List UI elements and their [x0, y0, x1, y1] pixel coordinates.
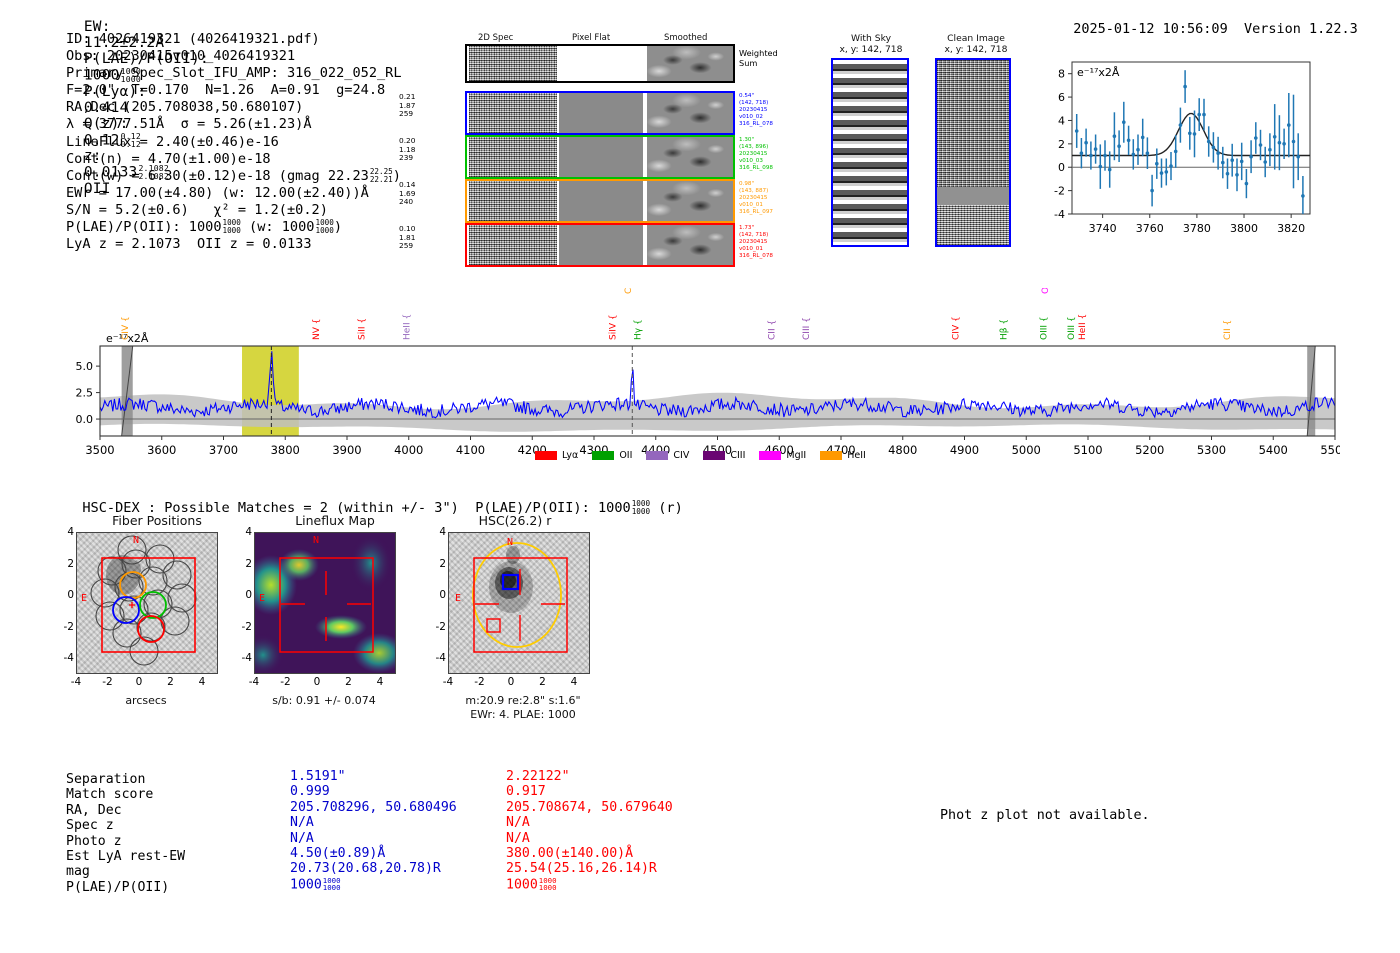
svg-text:CIV {: CIV { — [121, 316, 131, 340]
fiber-2dspec-tile — [469, 137, 557, 177]
fiber-smoothed-tile — [647, 137, 733, 177]
svg-text:5100: 5100 — [1073, 443, 1102, 457]
axis-tick-x: -4 — [439, 676, 457, 688]
info-plae-sub: 1000 — [223, 227, 241, 235]
match-table-label: Spec z — [66, 818, 185, 833]
svg-text:e⁻¹⁷x2Å: e⁻¹⁷x2Å — [1077, 66, 1120, 79]
hsc-north-label: N — [507, 537, 513, 548]
axis-tick-y: 4 — [58, 526, 74, 538]
fiber-row[interactable] — [465, 223, 735, 267]
info-radec: RA,Dec (205.708038,50.680107) — [66, 99, 402, 116]
fiber-metadata: 0.54"(142, 718)20230415v010_02316_RL_078 — [739, 93, 773, 128]
info-sn: S/N = 5.2(±0.6) χ² = 1.2(±0.2) — [66, 202, 402, 219]
axis-tick-x: 4 — [193, 676, 211, 688]
with-sky-title: With Sky x, y: 142, 718 — [826, 33, 916, 55]
svg-text:5300: 5300 — [1197, 443, 1226, 457]
fiber-pixelflat-tile — [559, 181, 643, 221]
fiber-positions-title: Fiber Positions — [62, 513, 252, 528]
info-cont-n: Cont(n) = 4.70(±1.00)e-18 — [66, 151, 402, 168]
info-plae: P(LAE)/P(OII): 100010001000 (w: 10001000… — [66, 219, 402, 236]
fiber-smoothed-tile — [647, 93, 733, 133]
svg-text:SiII {: SiII { — [357, 318, 367, 340]
axis-tick-x: 2 — [534, 676, 552, 688]
match-table-value: 20.73(20.68,20.78)R — [290, 861, 457, 876]
match-table-value: 0.917 — [506, 784, 673, 799]
full-spectrum-plot: 0.02.55.03500360037003800390040004100420… — [60, 288, 1340, 463]
dex-suffix: (r) — [658, 500, 683, 516]
legend-item: HeII — [820, 450, 866, 461]
fiber-row[interactable] — [465, 91, 735, 135]
spec2d-col-title-smoothed: Smoothed — [664, 33, 707, 43]
svg-text:CIII {: CIII { — [624, 288, 634, 294]
match-table-value: 100010001000 — [290, 877, 457, 893]
fiber-count: 259 — [399, 110, 459, 119]
svg-text:CII {: CII { — [767, 320, 777, 340]
axis-tick-y: -2 — [430, 621, 446, 633]
fiber-count: 259 — [399, 242, 459, 251]
fiber-weights: 0.201.18239 — [399, 137, 459, 163]
fiber-weights: 0.211.87259 — [399, 93, 459, 119]
axis-tick-y: 2 — [236, 558, 252, 570]
svg-text:HeII {: HeII { — [1078, 314, 1088, 340]
match-table-labels: SeparationMatch scoreRA, DecSpec zPhoto … — [66, 772, 185, 895]
axis-tick-x: 0 — [308, 676, 326, 688]
info-lambda: λ = 3777.51Å σ = 5.26(±1.23)Å — [66, 116, 402, 133]
axis-tick-y: -4 — [430, 652, 446, 664]
with-sky-title-text: With Sky — [826, 33, 916, 44]
info-ewr: EWr = 17.00(±4.80) (w: 12.00(±2.40))Å — [66, 185, 402, 202]
svg-text:3900: 3900 — [332, 443, 361, 457]
svg-text:4: 4 — [1058, 114, 1065, 127]
info-plae-mid: (w: 1000 — [249, 219, 314, 235]
fiber-positions-image[interactable]: N E — [76, 532, 218, 674]
match-table-label: Match score — [66, 787, 185, 802]
lineflux-map-title: Lineflux Map — [240, 513, 430, 528]
axis-tick-x: -2 — [277, 676, 295, 688]
axis-tick-y: -2 — [58, 621, 74, 633]
axis-tick-y: -2 — [236, 621, 252, 633]
info-plae-prefix: P(LAE)/P(OII): 1000 — [66, 219, 222, 235]
weighted-sum-label-l2: Sum — [739, 58, 778, 68]
legend-item: OII — [592, 450, 632, 461]
fiber-metadata: 0.98"(143, 887)20230415v010_01316_RL_097 — [739, 181, 773, 216]
cont-w-prefix: Cont(w) = 6.30(±0.12)e-18 (gmag 22.23 — [66, 168, 369, 184]
match-table-column-1: 2.22122"0.917205.708674, 50.679640N/AN/A… — [506, 769, 673, 893]
emission-line-zoom-plot: -4-20246837403760378038003820e⁻¹⁷x2Å — [1032, 52, 1322, 252]
legend-label: MgII — [786, 450, 806, 461]
svg-text:-4: -4 — [1054, 208, 1065, 221]
hsc-image-caption: m:20.9 re:2.8" s:1.6" EWr: 4. PLAE: 1000 — [438, 694, 608, 722]
svg-text:3820: 3820 — [1277, 222, 1305, 235]
match-table-label: Separation — [66, 772, 185, 787]
fiber-pixelflat-tile — [559, 225, 643, 265]
legend-swatch-CIV — [646, 451, 668, 460]
legend-swatch-Lyα — [535, 451, 557, 460]
fiber-pixelflat-tile — [559, 93, 643, 133]
fiber-2dspec-tile — [469, 225, 557, 265]
weighted-sum-strip — [465, 44, 735, 83]
weighted-sum-label-l1: Weighted — [739, 48, 778, 58]
match-table-value: 0.999 — [290, 784, 457, 799]
svg-text:3600: 3600 — [147, 443, 176, 457]
hsc-caption-line1: m:20.9 re:2.8" s:1.6" — [438, 694, 608, 708]
svg-text:6: 6 — [1058, 91, 1065, 104]
svg-text:Hβ {: Hβ { — [1000, 319, 1010, 340]
legend-label: HeII — [847, 450, 866, 461]
fiber-weights: 0.101.81259 — [399, 225, 459, 251]
match-table-label: RA, Dec — [66, 803, 185, 818]
svg-text:5.0: 5.0 — [76, 360, 94, 373]
axis-tick-y: 2 — [58, 558, 74, 570]
legend-item: CIII — [703, 450, 745, 461]
fiber-positions-caption: arcsecs — [76, 694, 216, 708]
with-sky-coords: x, y: 142, 718 — [826, 44, 916, 55]
svg-text:5200: 5200 — [1135, 443, 1164, 457]
fiber-weights: 0.141.69240 — [399, 181, 459, 207]
axis-tick-y: 0 — [430, 589, 446, 601]
svg-text:4000: 4000 — [394, 443, 423, 457]
info-lineflux: LineFlux = 2.40(±0.46)e-16 — [66, 134, 402, 151]
hsc-image-title: HSC(26.2) r — [420, 513, 610, 528]
spec2d-col-title-2dspec: 2D Spec — [478, 33, 513, 43]
match-table-value: 205.708674, 50.679640 — [506, 800, 673, 815]
info-obs: Obs: 20230415v010_4026419321 — [66, 48, 402, 65]
svg-text:2.5: 2.5 — [76, 387, 94, 400]
hsc-dex-summary: HSC-DEX : Possible Matches = 2 (within +… — [66, 484, 683, 516]
svg-text:3700: 3700 — [209, 443, 238, 457]
svg-text:CIII {: CIII { — [802, 317, 812, 340]
info-plae-w-sub: 1000 — [316, 227, 334, 235]
svg-text:3800: 3800 — [271, 443, 300, 457]
axis-tick-x: 2 — [162, 676, 180, 688]
legend-item: MgII — [759, 450, 806, 461]
match-table-value: 380.00(±140.00)Å — [506, 846, 673, 861]
axis-tick-y: 4 — [430, 526, 446, 538]
header-timestamp-version: 2025-01-12 10:56:09 Version 1.22.3 — [1057, 5, 1358, 37]
legend-label: Lyα — [562, 450, 578, 461]
clean-image — [935, 58, 1011, 247]
svg-text:4100: 4100 — [456, 443, 485, 457]
fiber-2dspec-tile — [469, 93, 557, 133]
svg-text:-2: -2 — [1054, 185, 1065, 198]
axis-tick-x: 0 — [130, 676, 148, 688]
fiber-count: 240 — [399, 198, 459, 207]
svg-text:2: 2 — [1058, 138, 1065, 151]
legend-label: CIII — [730, 450, 745, 461]
fiber-metadata: 1.73"(142, 718)20230415v010_01316_RL_078 — [739, 225, 773, 260]
svg-text:CIV {: CIV { — [951, 316, 961, 340]
svg-text:3760: 3760 — [1136, 222, 1164, 235]
svg-text:8: 8 — [1058, 68, 1065, 81]
clean-image-title: Clean Image x, y: 142, 718 — [926, 33, 1026, 55]
axis-tick-y: 0 — [236, 589, 252, 601]
axis-tick-x: -4 — [245, 676, 263, 688]
info-redshifts: LyA z = 2.1073 OII z = 0.0133 — [66, 236, 402, 253]
legend-item: CIV — [646, 450, 689, 461]
hsc-image[interactable]: N E — [448, 532, 590, 674]
legend-swatch-MgII — [759, 451, 781, 460]
axis-tick-y: 4 — [236, 526, 252, 538]
fiber-row[interactable] — [465, 179, 735, 223]
svg-text:5000: 5000 — [1012, 443, 1041, 457]
fiber-north-label: N — [133, 535, 139, 546]
info-plae-suffix: ) — [334, 219, 342, 235]
legend-item: Lyα — [535, 450, 578, 461]
svg-text:HeII {: HeII { — [402, 314, 412, 340]
timestamp: 2025-01-12 10:56:09 — [1073, 21, 1227, 37]
match-table-label: P(LAE)/P(OII) — [66, 880, 185, 895]
axis-tick-x: 2 — [340, 676, 358, 688]
spec2d-col-title-pixelflat: Pixel Flat — [572, 33, 610, 43]
fiber-count: 239 — [399, 154, 459, 163]
svg-text:3740: 3740 — [1089, 222, 1117, 235]
axis-tick-x: -2 — [471, 676, 489, 688]
fiber-east-label: E — [81, 593, 87, 604]
match-table-value: N/A — [506, 831, 673, 846]
match-table-label: mag — [66, 864, 185, 879]
match-table-value: 4.50(±0.89)Å — [290, 846, 457, 861]
match-table-value: N/A — [290, 815, 457, 830]
axis-tick-y: -4 — [236, 652, 252, 664]
svg-text:CII {: CII { — [1223, 320, 1233, 340]
match-table-value: N/A — [506, 815, 673, 830]
svg-text:4900: 4900 — [950, 443, 979, 457]
match-table-value: 1.5191" — [290, 769, 457, 784]
info-primary: Primary Spec_Slot_IFU_AMP: 316_022_052_R… — [66, 65, 402, 82]
svg-text:3500: 3500 — [85, 443, 114, 457]
lineflux-map-caption: s/b: 0.91 +/- 0.074 — [244, 694, 404, 708]
match-table-value: 25.54(25.16,26.14)R — [506, 861, 673, 876]
fiber-smoothed-tile — [647, 225, 733, 265]
axis-tick-x: 4 — [371, 676, 389, 688]
cont-w-sub: 22.21 — [370, 176, 393, 184]
legend-swatch-OII — [592, 451, 614, 460]
axis-tick-x: -4 — [67, 676, 85, 688]
info-cont-w: Cont(w) = 6.30(±0.12)e-18 (gmag 22.2322.… — [66, 168, 402, 185]
svg-text:OIII {: OIII { — [1040, 316, 1050, 340]
fiber-row[interactable] — [465, 135, 735, 179]
hsc-east-label: E — [455, 593, 461, 604]
match-table-label: Photo z — [66, 834, 185, 849]
svg-text:Hγ {: Hγ { — [633, 319, 643, 340]
info-params: F=2.0" T=0.170 N=1.26 A=0.91 g=24.8 — [66, 82, 402, 99]
svg-text:5400: 5400 — [1259, 443, 1288, 457]
legend-swatch-HeII — [820, 451, 842, 460]
fiber-2dspec-tile — [469, 181, 557, 221]
axis-tick-y: 2 — [430, 558, 446, 570]
with-sky-image — [831, 58, 909, 247]
lineflux-east-label: E — [259, 593, 265, 604]
weighted-sum-label: Weighted Sum — [739, 48, 778, 68]
legend-label: OII — [619, 450, 632, 461]
match-table-value: 100010001000 — [506, 877, 673, 893]
legend-label: CIV — [673, 450, 689, 461]
hsc-caption-line2: EWr: 4. PLAE: 1000 — [438, 708, 608, 722]
svg-text:4800: 4800 — [888, 443, 917, 457]
lineflux-map-image[interactable]: N E — [254, 532, 396, 674]
svg-text:0: 0 — [1058, 161, 1065, 174]
axis-tick-x: 4 — [565, 676, 583, 688]
spec2d-panel-group: 2D Spec Pixel Flat Smoothed Weighted Sum… — [432, 33, 772, 258]
fiber-metadata: 1.30"(143, 896)20230415v010_03316_RL_098 — [739, 137, 773, 172]
axis-tick-y: 0 — [58, 589, 74, 601]
version-label: Version 1.22.3 — [1244, 21, 1358, 37]
match-table-label: Est LyA rest-EW — [66, 849, 185, 864]
fiber-smoothed-tile — [647, 181, 733, 221]
svg-text:3780: 3780 — [1183, 222, 1211, 235]
axis-tick-y: -4 — [58, 652, 74, 664]
svg-text:OIII {: OIII { — [1041, 288, 1051, 294]
match-table-value: N/A — [290, 831, 457, 846]
clean-image-coords: x, y: 142, 718 — [926, 44, 1026, 55]
svg-text:NV {: NV { — [312, 319, 322, 340]
axis-tick-x: 0 — [502, 676, 520, 688]
match-table-value: 2.22122" — [506, 769, 673, 784]
photz-not-available-note: Phot z plot not available. — [940, 808, 1150, 823]
fiber-pixelflat-tile — [559, 137, 643, 177]
svg-text:SiIV {: SiIV { — [609, 314, 619, 340]
clean-image-title-text: Clean Image — [926, 33, 1026, 44]
legend-swatch-CIII — [703, 451, 725, 460]
match-table-column-0: 1.5191"0.999205.708296, 50.680496N/AN/A4… — [290, 769, 457, 893]
svg-text:OIII {: OIII { — [1067, 316, 1077, 340]
axis-tick-x: -2 — [99, 676, 117, 688]
lineflux-north-label: N — [313, 535, 319, 546]
spectrum-legend: LyαOIICIVCIIIMgIIHeII — [535, 450, 880, 463]
match-table-value: 205.708296, 50.680496 — [290, 800, 457, 815]
svg-text:0.0: 0.0 — [76, 413, 94, 426]
dex-sub: 1000 — [632, 508, 650, 516]
info-id: ID: 4026419321 (4026419321.pdf) — [66, 31, 402, 48]
svg-text:5500: 5500 — [1320, 443, 1340, 457]
object-info-block: ID: 4026419321 (4026419321.pdf) Obs: 202… — [66, 31, 402, 253]
svg-text:3800: 3800 — [1230, 222, 1258, 235]
